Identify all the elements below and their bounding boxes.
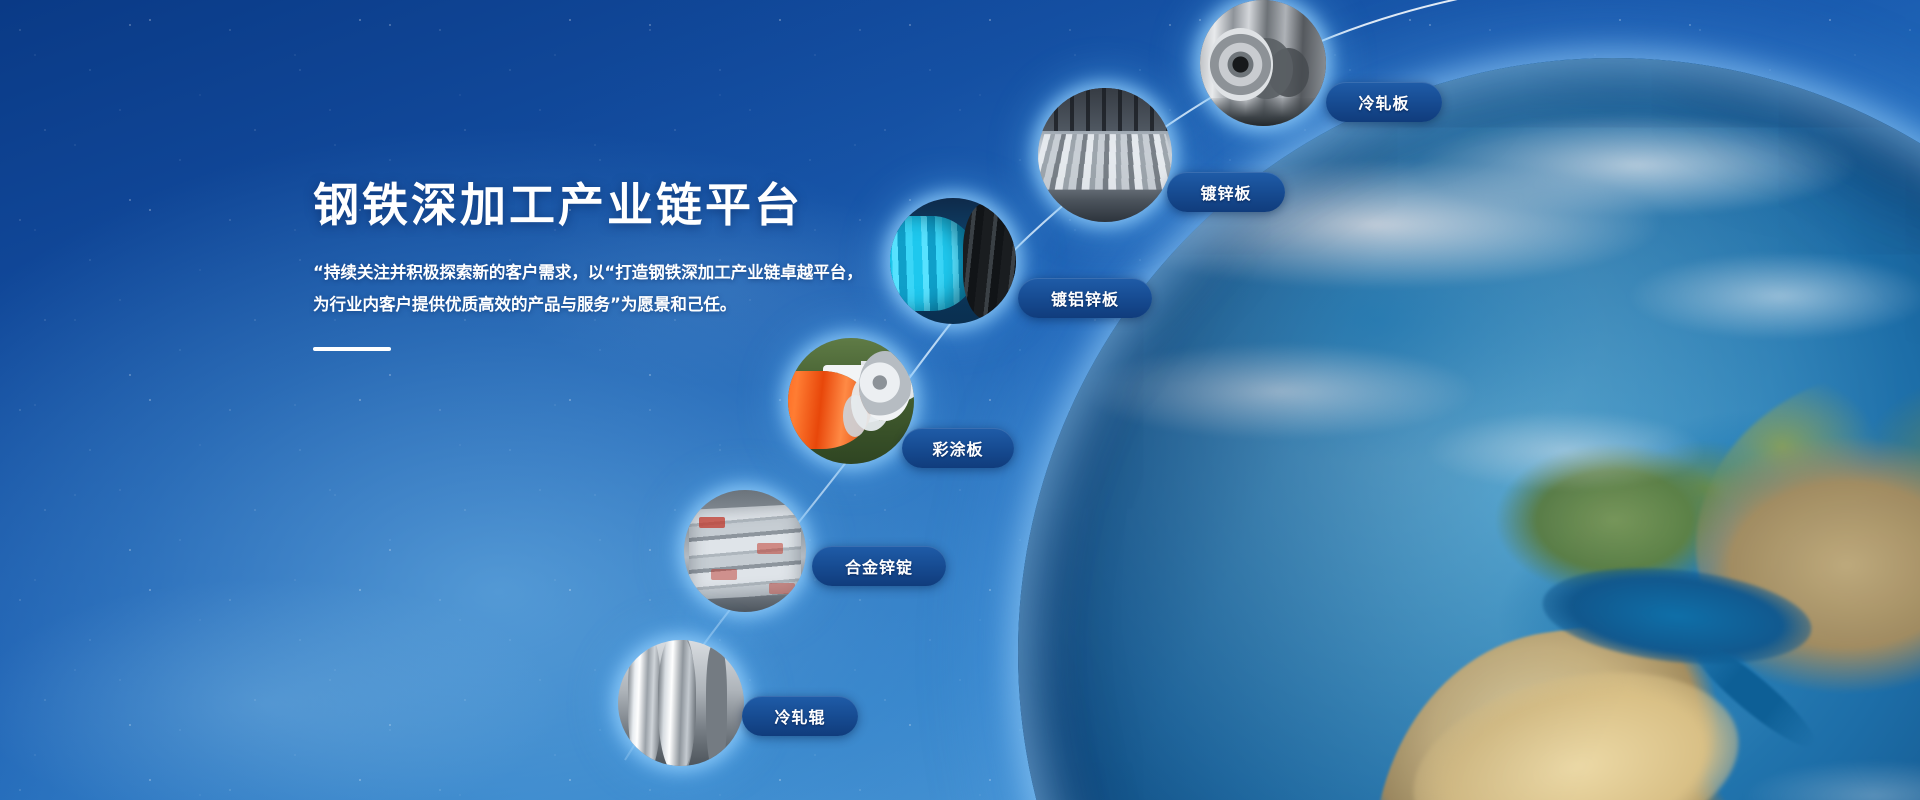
node-photo-galvanized-plate[interactable] (1038, 88, 1172, 222)
page-title: 钢铁深加工产业链平台 (313, 180, 913, 231)
globe-europe (1494, 415, 1794, 625)
hero-banner: 钢铁深加工产业链平台 “持续关注并积极探索新的客户需求，以“打造钢铁深加工产业链… (0, 0, 1920, 800)
globe-mediterranean (1538, 556, 1816, 676)
title-underline-rule (313, 347, 391, 351)
globe-container (0, 0, 1920, 800)
color-coated-coil-photo (788, 338, 914, 464)
globe-red-sea (1680, 629, 1824, 758)
starfield-layer-1 (0, 0, 1920, 800)
node-photo-alu-zinc-plate[interactable] (890, 198, 1016, 324)
subtitle-line-2: 为行业内客户提供优质高效的产品与服务”为愿景和己任。 (313, 289, 878, 321)
node-label-alu-zinc-plate[interactable]: 镀铝锌板 (1018, 278, 1152, 318)
node-photo-cold-rolled-plate[interactable] (1200, 0, 1326, 126)
hero-subtitle: “持续关注并积极探索新的客户需求，以“打造钢铁深加工产业链卓越平台， 为行业内客… (313, 257, 878, 321)
hero-copy-block: 钢铁深加工产业链平台 “持续关注并积极探索新的客户需求，以“打造钢铁深加工产业链… (313, 180, 913, 351)
node-label-galvanized-plate[interactable]: 镀锌板 (1167, 172, 1285, 212)
starfield-layer-2 (0, 0, 1920, 800)
node-photo-cold-rolling-roller[interactable] (618, 640, 744, 766)
node-label-color-coated-plate[interactable]: 彩涂板 (902, 428, 1014, 468)
chain-connector-line (0, 0, 1920, 800)
globe-africa (1341, 602, 1839, 800)
globe-sahara (1396, 644, 1756, 800)
node-photo-alloy-zinc-ingot[interactable] (684, 490, 806, 612)
steel-coil-row-photo (1200, 0, 1326, 126)
polished-roller-photo (618, 640, 744, 766)
nebula-glow (0, 0, 1920, 800)
node-label-alloy-zinc-ingot[interactable]: 合金锌锭 (812, 546, 946, 586)
node-photo-color-coated-plate[interactable] (788, 338, 914, 464)
zinc-ingot-stack-photo (684, 490, 806, 612)
node-label-cold-rolling-roller[interactable]: 冷轧辊 (742, 696, 858, 736)
coil-warehouse-photo (1038, 88, 1172, 222)
teal-coated-coil-photo (890, 198, 1016, 324)
subtitle-line-1: “持续关注并积极探索新的客户需求，以“打造钢铁深加工产业链卓越平台， (313, 257, 878, 289)
node-label-cold-rolled-plate[interactable]: 冷轧板 (1326, 82, 1442, 122)
globe-asia (1696, 367, 1920, 727)
